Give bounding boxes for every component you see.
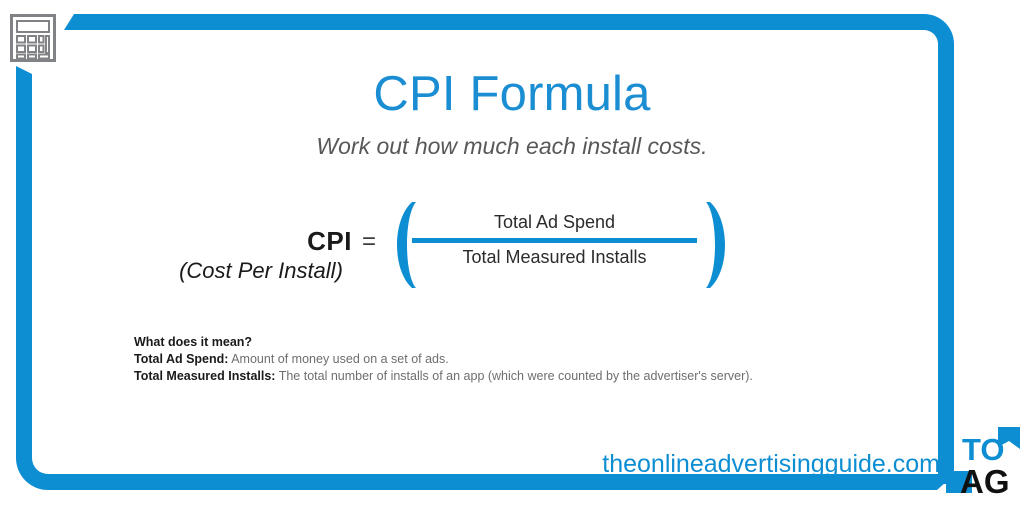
explanation-term: Total Measured Installs: [134, 369, 275, 383]
frame-corner-bottom-left [16, 438, 66, 490]
close-paren-icon [698, 200, 740, 290]
explanation-term: Total Ad Spend: [134, 352, 228, 366]
infographic-canvas: CPI Formula Work out how much each insta… [0, 0, 1024, 512]
frame-left-border [16, 66, 32, 456]
explanation-definition: Amount of money used on a set of ads. [228, 352, 448, 366]
explanation-block: What does it mean? Total Ad Spend: Amoun… [134, 334, 934, 385]
formula-fraction: Total Ad Spend Total Measured Installs [412, 212, 697, 268]
site-url-link[interactable]: theonlineadvertisingguide.com [530, 450, 940, 479]
svg-text:AG: AG [960, 463, 1010, 500]
explanation-heading: What does it mean? [134, 334, 934, 351]
formula-lhs-sublabel: (Cost Per Install) [170, 258, 352, 284]
toag-logo[interactable]: TO AG [946, 427, 1024, 501]
fraction-denominator: Total Measured Installs [412, 243, 697, 268]
svg-text:TO: TO [962, 432, 1005, 467]
explanation-item: Total Measured Installs: The total numbe… [134, 368, 934, 385]
fraction-numerator: Total Ad Spend [412, 212, 697, 238]
page-subtitle: Work out how much each install costs. [0, 133, 1024, 160]
explanation-definition: The total number of installs of an app (… [275, 369, 752, 383]
page-title: CPI Formula [0, 66, 1024, 122]
explanation-item: Total Ad Spend: Amount of money used on … [134, 351, 934, 368]
calculator-icon [10, 14, 56, 62]
frame-top-border [64, 14, 920, 30]
formula-lhs-label: CPI [192, 226, 352, 257]
formula-equals-sign: = [362, 228, 376, 256]
